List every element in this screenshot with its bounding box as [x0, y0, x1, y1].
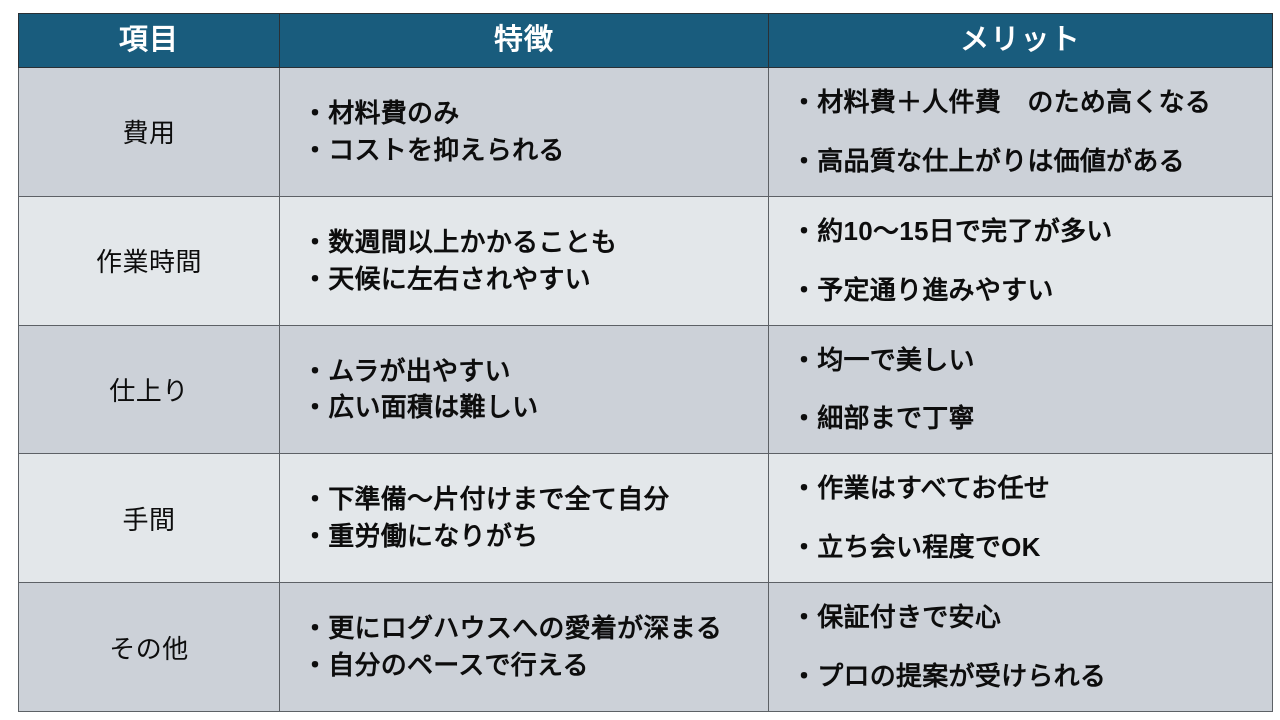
row-merit-cell: ・材料費＋人件費 のため高くなる ・高品質な仕上がりは価値がある: [769, 68, 1273, 197]
list-item: ・下準備〜片付けまで全て自分: [302, 481, 768, 518]
merit-bullet-list: ・材料費＋人件費 のため高くなる ・高品質な仕上がりは価値がある: [791, 84, 1272, 180]
list-item: ・天候に左右されやすい: [302, 261, 768, 298]
row-merit-cell: ・均一で美しい ・細部まで丁寧: [769, 325, 1273, 454]
row-merit-cell: ・約10〜15日で完了が多い ・予定通り進みやすい: [769, 196, 1273, 325]
column-header-item: 項目: [19, 14, 280, 68]
comparison-table: 項目 特徴 メリット 費用 ・材料費のみ ・コストを抑えられる ・材料費＋人件費…: [18, 13, 1273, 712]
list-item: ・コストを抑えられる: [302, 132, 768, 169]
feature-bullet-list: ・下準備〜片付けまで全て自分 ・重労働になりがち: [302, 481, 768, 555]
list-item: ・約10〜15日で完了が多い: [791, 213, 1272, 250]
row-feature-cell: ・更にログハウスへの愛着が深まる ・自分のペースで行える: [280, 583, 769, 712]
table-header-row: 項目 特徴 メリット: [19, 14, 1273, 68]
row-feature-cell: ・ムラが出やすい ・広い面積は難しい: [280, 325, 769, 454]
list-item: ・作業はすべてお任せ: [791, 470, 1272, 507]
list-item: ・材料費＋人件費 のため高くなる: [791, 84, 1272, 121]
row-feature-cell: ・下準備〜片付けまで全て自分 ・重労働になりがち: [280, 454, 769, 583]
list-item: ・材料費のみ: [302, 95, 768, 132]
row-merit-cell: ・保証付きで安心 ・プロの提案が受けられる: [769, 583, 1273, 712]
merit-bullet-list: ・保証付きで安心 ・プロの提案が受けられる: [791, 599, 1272, 695]
feature-bullet-list: ・ムラが出やすい ・広い面積は難しい: [302, 353, 768, 427]
list-item: ・予定通り進みやすい: [791, 272, 1272, 309]
table-header: 項目 特徴 メリット: [19, 14, 1273, 68]
table-row: 手間 ・下準備〜片付けまで全て自分 ・重労働になりがち ・作業はすべてお任せ ・…: [19, 454, 1273, 583]
list-item: ・重労働になりがち: [302, 518, 768, 555]
table-row: 作業時間 ・数週間以上かかることも ・天候に左右されやすい ・約10〜15日で完…: [19, 196, 1273, 325]
table-row: 仕上り ・ムラが出やすい ・広い面積は難しい ・均一で美しい ・細部まで丁寧: [19, 325, 1273, 454]
list-item: ・保証付きで安心: [791, 599, 1272, 636]
row-merit-cell: ・作業はすべてお任せ ・立ち会い程度でOK: [769, 454, 1273, 583]
list-item: ・ムラが出やすい: [302, 353, 768, 390]
list-item: ・更にログハウスへの愛着が深まる: [302, 610, 768, 647]
row-item-label: 手間: [19, 454, 280, 583]
list-item: ・プロの提案が受けられる: [791, 658, 1272, 695]
list-item: ・均一で美しい: [791, 342, 1272, 379]
list-item: ・立ち会い程度でOK: [791, 529, 1272, 566]
merit-bullet-list: ・約10〜15日で完了が多い ・予定通り進みやすい: [791, 213, 1272, 309]
row-item-label: その他: [19, 583, 280, 712]
feature-bullet-list: ・数週間以上かかることも ・天候に左右されやすい: [302, 224, 768, 298]
list-item: ・細部まで丁寧: [791, 400, 1272, 437]
merit-bullet-list: ・作業はすべてお任せ ・立ち会い程度でOK: [791, 470, 1272, 566]
feature-bullet-list: ・材料費のみ ・コストを抑えられる: [302, 95, 768, 169]
list-item: ・広い面積は難しい: [302, 389, 768, 426]
table-row: 費用 ・材料費のみ ・コストを抑えられる ・材料費＋人件費 のため高くなる ・高…: [19, 68, 1273, 197]
table-row: その他 ・更にログハウスへの愛着が深まる ・自分のペースで行える ・保証付きで安…: [19, 583, 1273, 712]
row-feature-cell: ・材料費のみ ・コストを抑えられる: [280, 68, 769, 197]
row-item-label: 費用: [19, 68, 280, 197]
list-item: ・数週間以上かかることも: [302, 224, 768, 261]
list-item: ・高品質な仕上がりは価値がある: [791, 143, 1272, 180]
merit-bullet-list: ・均一で美しい ・細部まで丁寧: [791, 342, 1272, 438]
table-body: 費用 ・材料費のみ ・コストを抑えられる ・材料費＋人件費 のため高くなる ・高…: [19, 68, 1273, 712]
row-item-label: 作業時間: [19, 196, 280, 325]
row-feature-cell: ・数週間以上かかることも ・天候に左右されやすい: [280, 196, 769, 325]
row-item-label: 仕上り: [19, 325, 280, 454]
list-item: ・自分のペースで行える: [302, 647, 768, 684]
column-header-merit: メリット: [769, 14, 1273, 68]
column-header-feature: 特徴: [280, 14, 769, 68]
feature-bullet-list: ・更にログハウスへの愛着が深まる ・自分のペースで行える: [302, 610, 768, 684]
comparison-table-container: 項目 特徴 メリット 費用 ・材料費のみ ・コストを抑えられる ・材料費＋人件費…: [18, 13, 1272, 712]
